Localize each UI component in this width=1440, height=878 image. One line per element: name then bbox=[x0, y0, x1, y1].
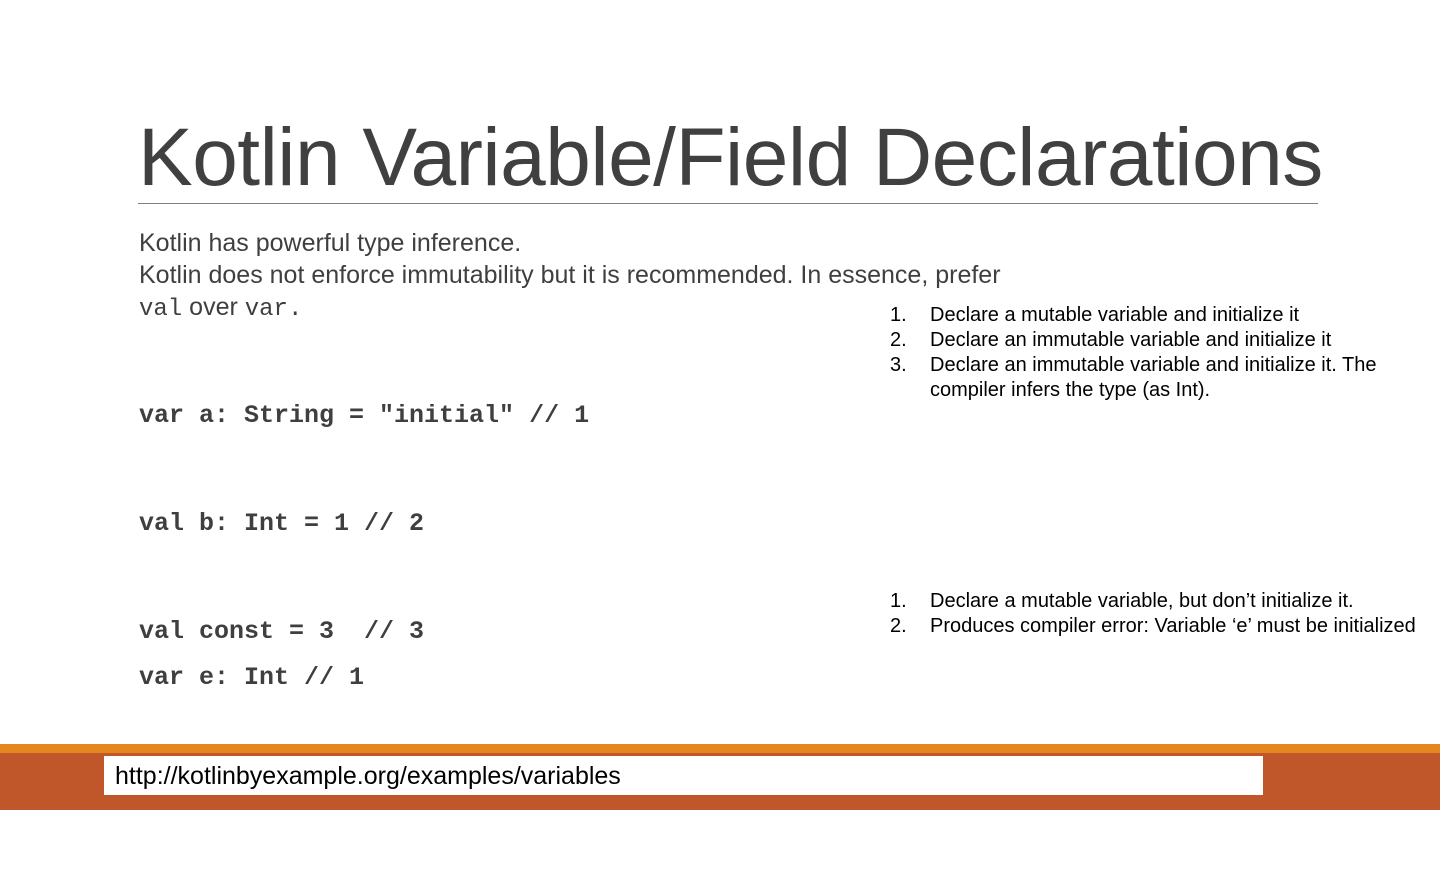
list-item: 1. Declare a mutable variable, but don’t… bbox=[884, 589, 1432, 614]
notes-list-lower: 1. Declare a mutable variable, but don’t… bbox=[884, 589, 1432, 639]
slide-canvas: Kotlin Variable/Field Declarations Kotli… bbox=[0, 0, 1440, 810]
list-item-number: 1. bbox=[884, 303, 930, 328]
list-item: 1. Declare a mutable variable and initia… bbox=[884, 303, 1432, 328]
list-item-text: Declare an immutable variable and initia… bbox=[930, 353, 1432, 403]
list-item-number: 2. bbox=[884, 328, 930, 353]
title-divider bbox=[138, 203, 1318, 204]
notes-list-upper: 1. Declare a mutable variable and initia… bbox=[884, 303, 1432, 403]
footer-url-link[interactable]: http://kotlinbyexample.org/examples/vari… bbox=[115, 761, 621, 791]
list-item-number: 2. bbox=[884, 614, 930, 639]
list-item-text: Declare a mutable variable, but don’t in… bbox=[930, 589, 1432, 614]
list-item: 2. Declare an immutable variable and ini… bbox=[884, 328, 1432, 353]
list-item-text: Declare a mutable variable and initializ… bbox=[930, 303, 1432, 328]
code-line: var e: Int // 1 bbox=[139, 662, 364, 712]
page-title: Kotlin Variable/Field Declarations bbox=[138, 112, 1320, 204]
intro-line-1: Kotlin has powerful type inference. bbox=[139, 227, 1329, 259]
intro-keyword-val: val bbox=[139, 296, 182, 323]
intro-line-3-period: . bbox=[288, 296, 302, 323]
code-line: var a: String = "initial" // 1 bbox=[139, 400, 589, 450]
list-item-text: Produces compiler error: Variable ‘e’ mu… bbox=[930, 614, 1432, 639]
intro-line-2: Kotlin does not enforce immutability but… bbox=[139, 259, 1329, 291]
list-item-text: Declare an immutable variable and initia… bbox=[930, 328, 1432, 353]
code-block-lower: var e: Int // 1 println(e) // 2 bbox=[139, 604, 364, 878]
list-item: 2. Produces compiler error: Variable ‘e’… bbox=[884, 614, 1432, 639]
intro-keyword-var: var bbox=[245, 296, 288, 323]
intro-line-3-middle: over bbox=[182, 293, 245, 321]
footer-bar: http://kotlinbyexample.org/examples/vari… bbox=[0, 744, 1440, 810]
code-line: val b: Int = 1 // 2 bbox=[139, 508, 589, 558]
list-item-number: 1. bbox=[884, 589, 930, 614]
list-item: 3. Declare an immutable variable and ini… bbox=[884, 353, 1432, 403]
footer-url-box: http://kotlinbyexample.org/examples/vari… bbox=[104, 756, 1263, 795]
footer-accent-stripe bbox=[0, 744, 1440, 753]
list-item-number: 3. bbox=[884, 353, 930, 378]
